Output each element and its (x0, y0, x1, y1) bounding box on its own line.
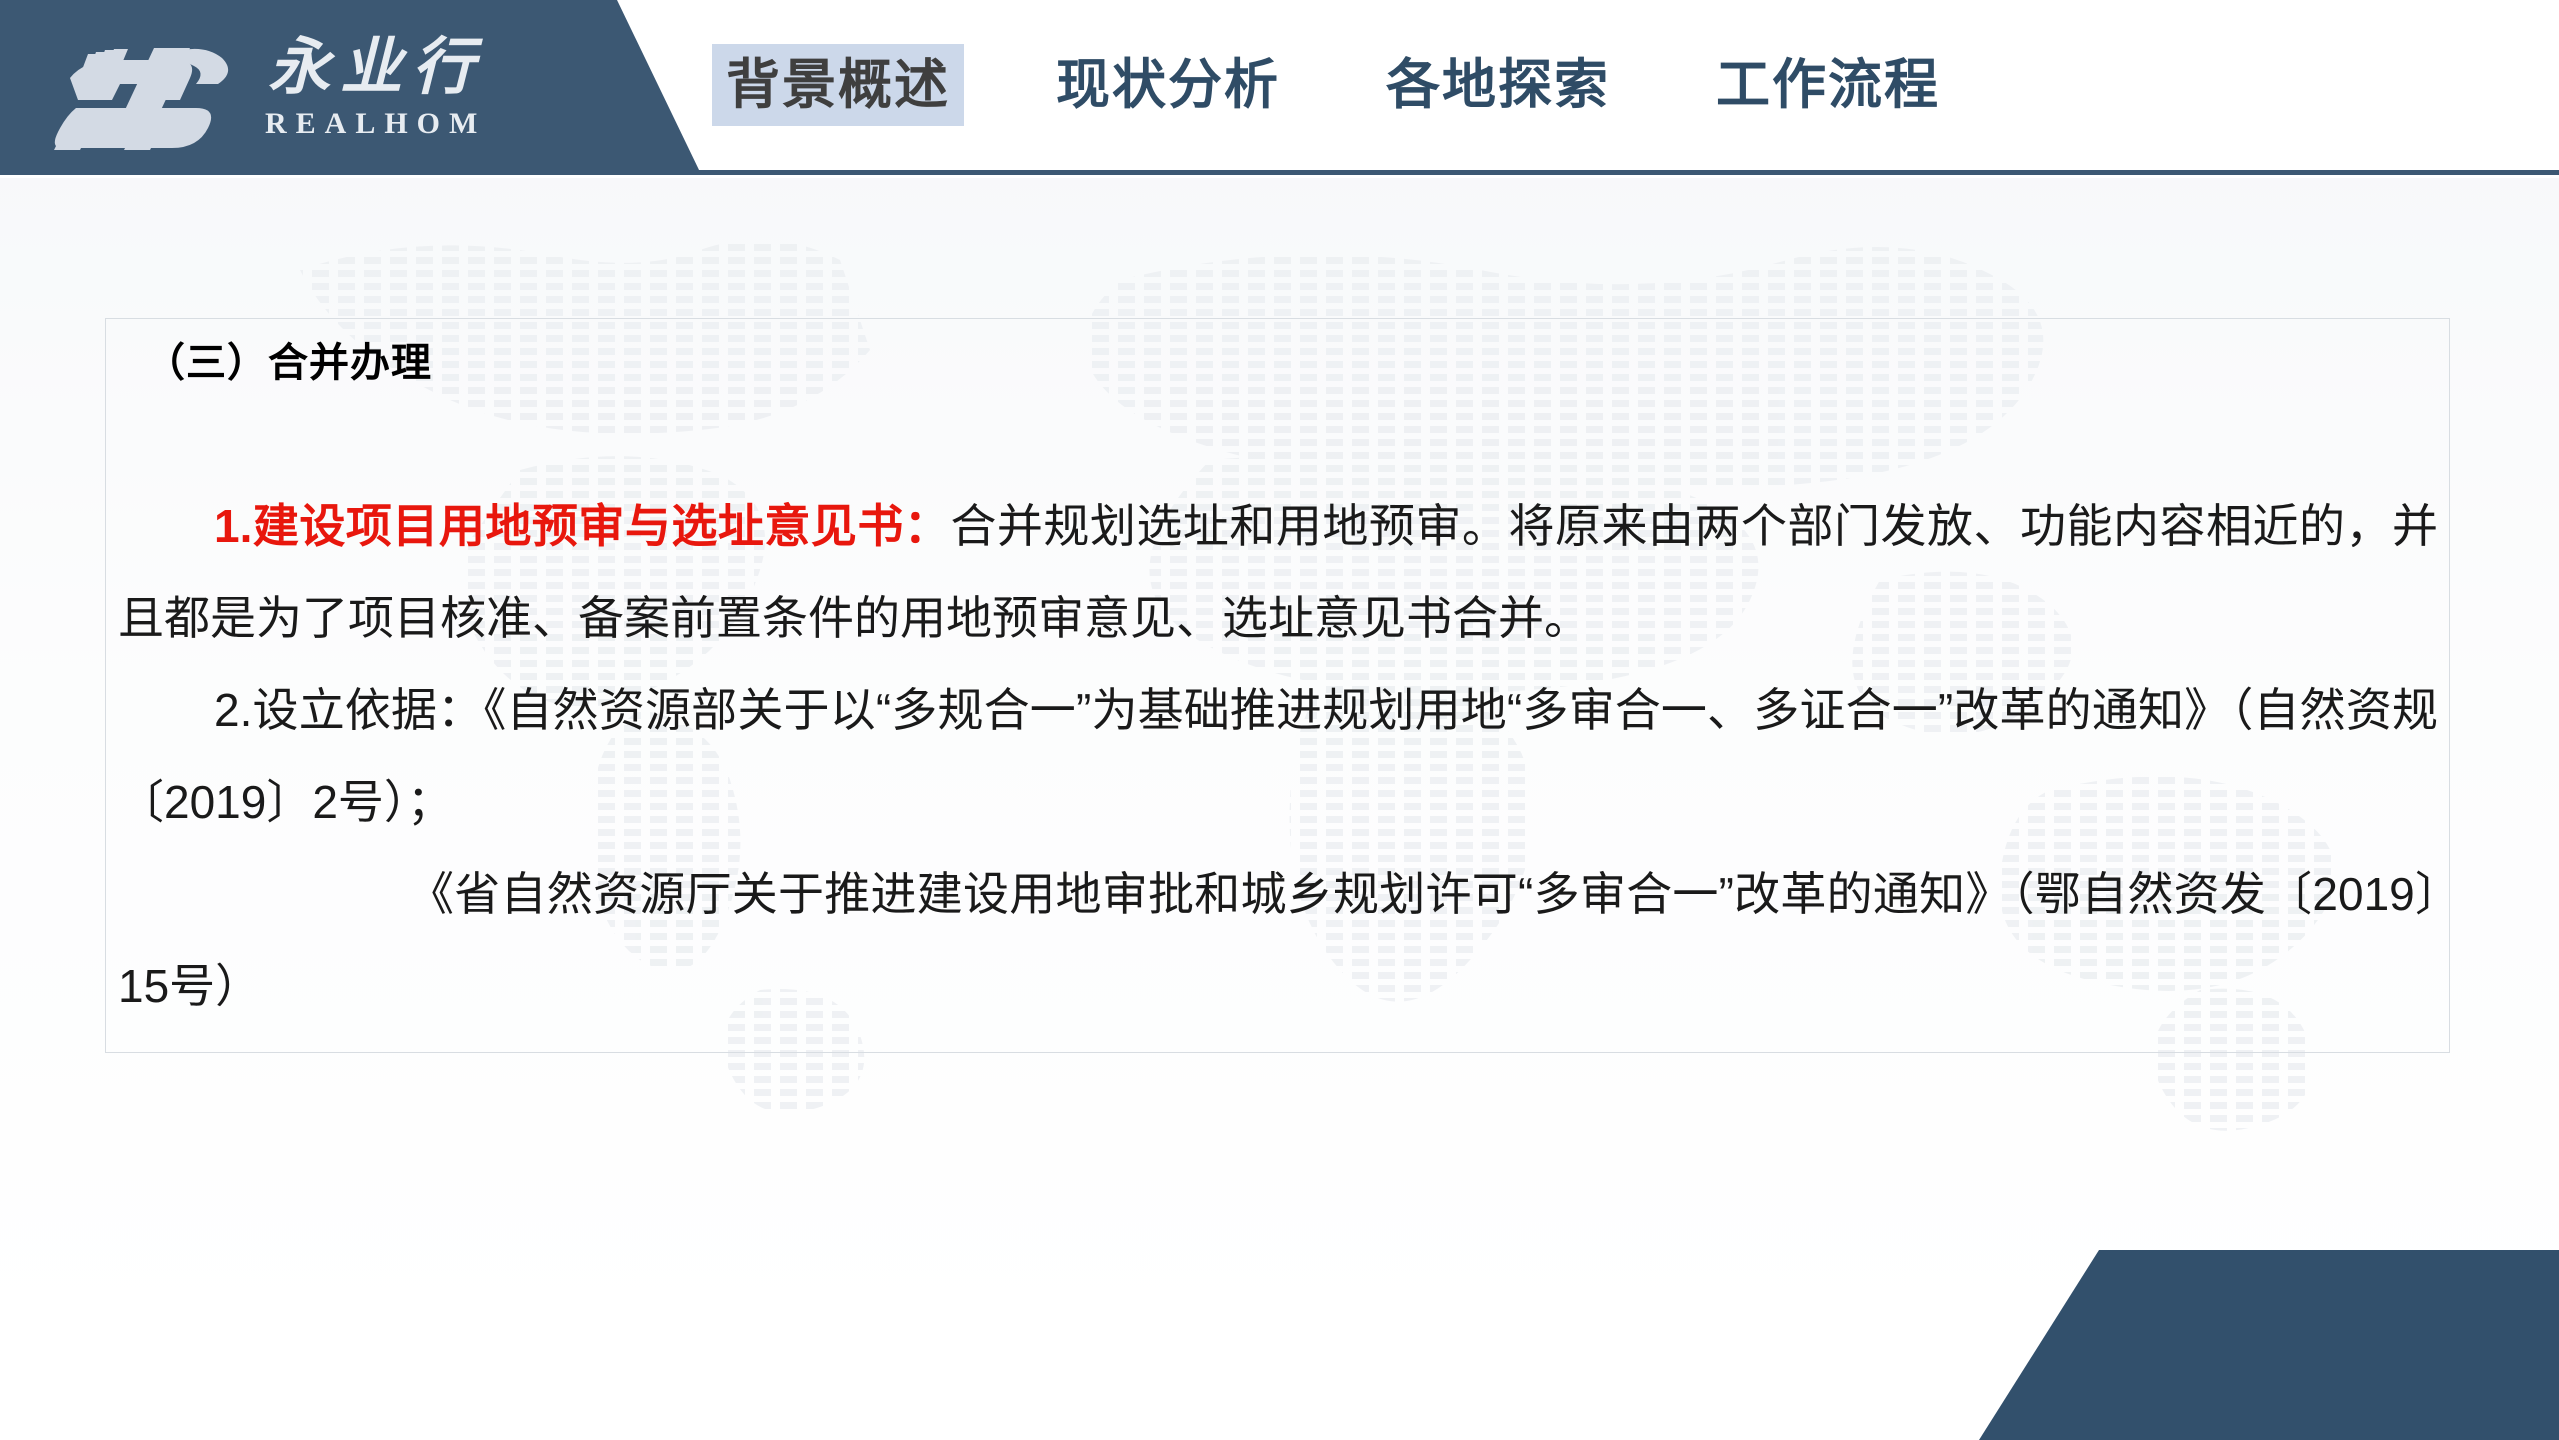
header-divider (0, 170, 2559, 175)
tab-background-overview[interactable]: 背景概述 (712, 44, 964, 126)
brand-logo-text: 永业行 REALHOM (256, 37, 486, 139)
tab-work-process[interactable]: 工作流程 (1702, 44, 1954, 126)
slide-header: 永业行 REALHOM 背景概述 现状分析 各地探索 工作流程 (0, 0, 2559, 178)
brand-name-english: REALHOM (256, 109, 486, 139)
brand-name-chinese: 永业行 (258, 37, 484, 99)
presentation-slide: 永业行 REALHOM 背景概述 现状分析 各地探索 工作流程 （三）合并办理 … (0, 0, 2559, 1440)
paragraph-1: 1.建设项目用地预审与选址意见书：合并规划选址和用地预审。将原来由两个部门发放、… (118, 480, 2438, 664)
paragraph-2: 2.设立依据：《自然资源部关于以“多规合一”为基础推进规划用地“多审合一、多证合… (118, 664, 2438, 848)
brand-logo[interactable]: 永业行 REALHOM (48, 18, 486, 158)
tab-current-analysis[interactable]: 现状分析 (1042, 44, 1294, 126)
content-body: 1.建设项目用地预审与选址意见书：合并规划选址和用地预审。将原来由两个部门发放、… (118, 480, 2438, 1032)
paragraph-1-emphasis: 1.建设项目用地预审与选址意见书： (214, 500, 950, 552)
nav-tabs: 背景概述 现状分析 各地探索 工作流程 (700, 0, 1954, 170)
tab-regional-exploration[interactable]: 各地探索 (1372, 44, 1624, 126)
paragraph-3: 《省自然资源厅关于推进建设用地审批和城乡规划许可“多审合一”改革的通知》（鄂自然… (118, 848, 2438, 1032)
realhom-logo-mark-icon (48, 24, 238, 152)
bottom-right-corner-accent (1979, 1250, 2559, 1440)
